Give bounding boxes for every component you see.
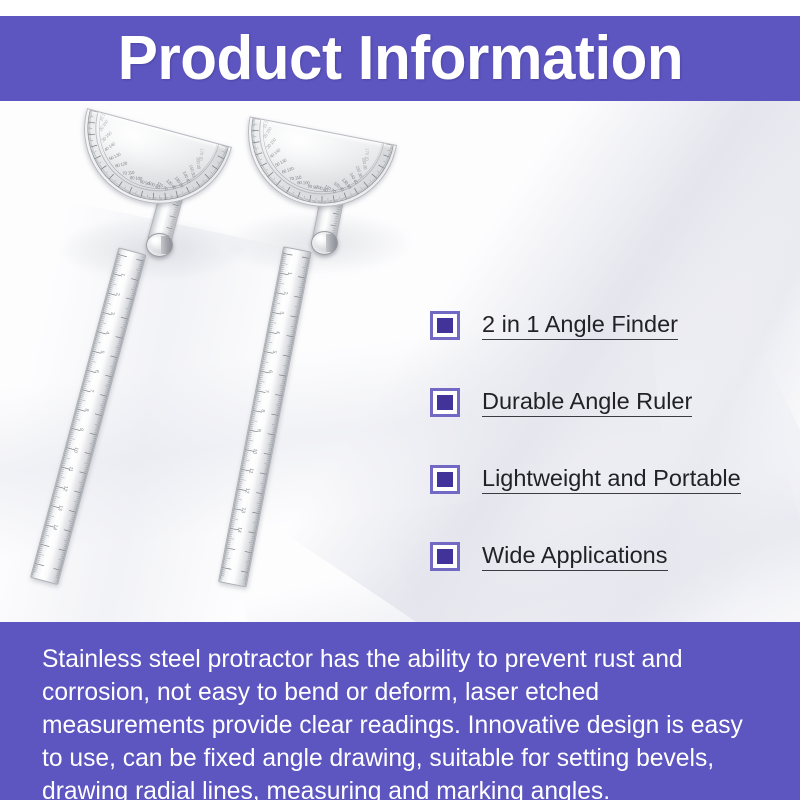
ruler-label: 7 (263, 389, 269, 393)
degree-label: 100 80 (315, 184, 328, 193)
degree-label: 10 170 (98, 109, 108, 122)
feature-item-3[interactable]: Lightweight and Portable (430, 441, 790, 518)
bullet-inner-fill (437, 318, 453, 333)
description-text: Stainless steel protractor has the abili… (42, 643, 755, 800)
pivot-knob (311, 231, 338, 255)
page-title: Product Information (117, 28, 682, 90)
ruler-label: 13 (240, 507, 247, 514)
degree-label: 50 130 (274, 157, 287, 167)
ruler-label: 12 (244, 487, 251, 494)
degree-label: 170 10 (365, 148, 370, 160)
bullet-square-icon (430, 311, 460, 340)
degree-label: 80 100 (297, 180, 309, 185)
ruler-label: 4 (275, 330, 281, 334)
degree-label: 120 60 (165, 179, 177, 191)
protractor-head: 10 17020 16030 15040 14050 13060 12070 1… (235, 116, 397, 219)
header-banner: Product Information (0, 16, 800, 101)
ruler-tick-marks (219, 247, 310, 586)
feature-label: Wide Applications (482, 542, 668, 571)
degree-label: 90 90 (307, 183, 318, 190)
ruler-label: 1 (286, 271, 292, 275)
product-information-infographic: Product Information 1234567891011121314 (0, 0, 800, 800)
ruler-tick-marks (31, 248, 145, 583)
bullet-inner-fill (437, 395, 453, 410)
product-showcase-panel: 1234567891011121314 10 17020 16030 15040… (0, 101, 800, 622)
degree-label: 30 150 (265, 137, 277, 150)
degree-label: 40 140 (269, 147, 282, 159)
degree-label: 140 40 (349, 172, 359, 185)
degree-label: 110 70 (324, 183, 337, 193)
ruler-label: 2 (282, 291, 288, 295)
description-banner: Stainless steel protractor has the abili… (0, 622, 800, 800)
degree-label: 150 30 (189, 164, 197, 177)
bullet-inner-fill (437, 472, 453, 487)
feature-label: 2 in 1 Angle Finder (482, 311, 678, 340)
degree-label: 160 20 (195, 157, 201, 170)
degree-label: 60 120 (281, 166, 294, 175)
degree-label: 60 120 (114, 161, 127, 169)
ruler-label: 5 (271, 350, 277, 354)
degree-label: 20 160 (98, 119, 109, 132)
degree-label: 70 110 (122, 169, 134, 175)
degree-label: 140 40 (182, 170, 192, 183)
degree-label: 50 130 (108, 151, 121, 161)
ruler-arm: 1234567891011121314 (30, 247, 147, 585)
ruler-label: 10 (251, 448, 258, 455)
ruler-label: 9 (255, 428, 261, 432)
feature-list: 2 in 1 Angle Finder Durable Angle Ruler … (430, 287, 790, 595)
degree-label: 80 100 (130, 175, 143, 181)
degree-scale-labels: 10 17020 16030 15040 14050 13060 12070 1… (236, 118, 395, 219)
pivot-knob (146, 233, 173, 257)
degree-label: 100 80 (147, 180, 160, 190)
protractor-head: 10 17020 16030 15040 14050 13060 12070 1… (67, 108, 232, 220)
feature-label: Lightweight and Portable (482, 465, 741, 494)
ruler-label: 3 (278, 311, 284, 315)
bullet-inner-fill (437, 549, 453, 564)
ruler-label: 14 (236, 527, 243, 534)
degree-label: 40 140 (103, 141, 116, 152)
bullet-square-icon (430, 465, 460, 494)
degree-label: 10 170 (262, 116, 271, 128)
degree-label: 70 110 (289, 174, 302, 181)
degree-label: 130 50 (341, 177, 353, 190)
ruler-arm: 1234567891011121314 (218, 246, 312, 587)
ruler-label: 11 (247, 468, 254, 474)
degree-scale-labels: 10 17020 16030 15040 14050 13060 12070 1… (69, 109, 231, 219)
feature-item-1[interactable]: 2 in 1 Angle Finder (430, 287, 790, 364)
degree-label: 120 60 (333, 181, 346, 193)
degree-label: 20 160 (262, 126, 273, 139)
ruler-label: 8 (259, 409, 265, 413)
degree-label: 150 30 (355, 165, 364, 178)
degree-label: 110 70 (156, 180, 169, 191)
feature-item-2[interactable]: Durable Angle Ruler (430, 364, 790, 441)
degree-label: 90 90 (139, 179, 150, 186)
degree-label: 130 50 (174, 175, 185, 188)
ruler-label: 6 (267, 369, 273, 373)
degree-label: 160 20 (361, 157, 368, 170)
degree-label: 30 150 (100, 130, 112, 142)
feature-label: Durable Angle Ruler (482, 388, 692, 417)
degree-label: 170 10 (199, 148, 205, 161)
bullet-square-icon (430, 542, 460, 571)
bullet-square-icon (430, 388, 460, 417)
feature-item-4[interactable]: Wide Applications (430, 518, 790, 595)
